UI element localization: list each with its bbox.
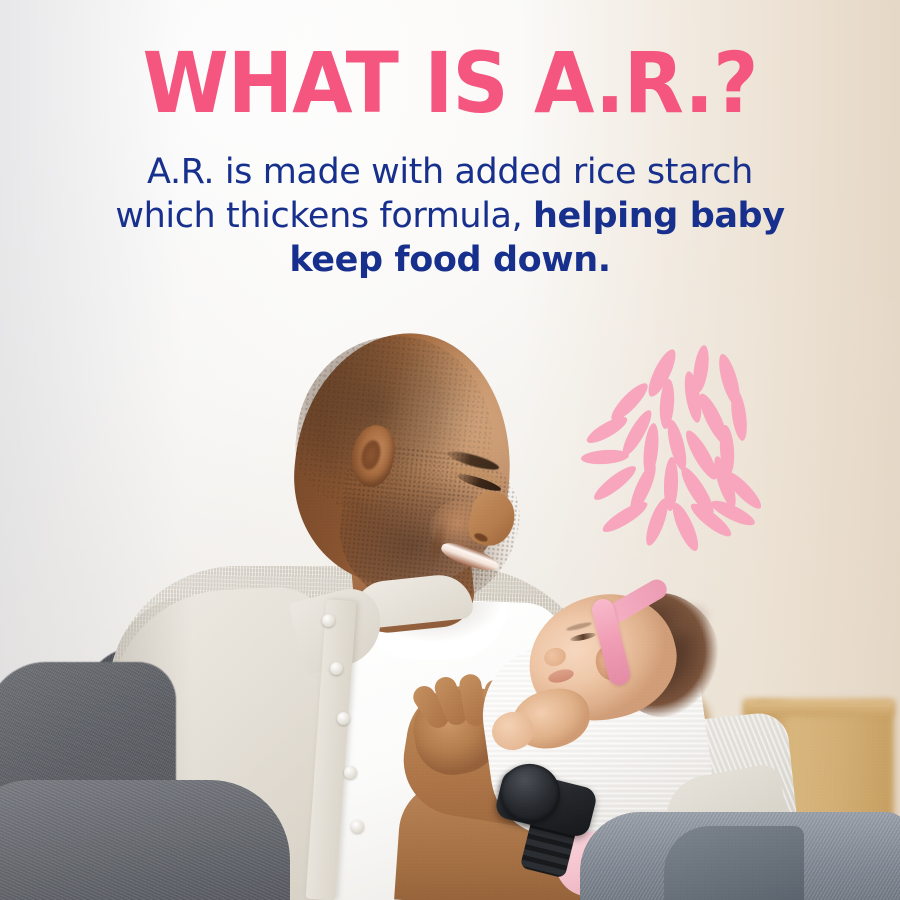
ad-creative: WHAT IS A.R.? A.R. is made with added ri… <box>0 0 900 900</box>
subcopy-line-2-regular: which thickens formula, <box>115 196 533 236</box>
subcopy-block: A.R. is made with added rice starch whic… <box>50 150 850 282</box>
sofa-right-fold <box>664 826 804 900</box>
rice-grain-cluster-icon <box>598 345 768 545</box>
sofa-seat-texture <box>0 780 290 900</box>
subcopy-line-3: keep food down. <box>50 238 850 282</box>
page-title: WHAT IS A.R.? <box>32 41 869 125</box>
subcopy-line-2-bold: helping baby <box>533 196 785 236</box>
rice-grain-icon <box>728 388 749 441</box>
subcopy-line-3-bold: keep food down. <box>289 240 610 280</box>
subcopy-line-1-text: A.R. is made with added rice starch <box>147 152 753 192</box>
subcopy-line-1: A.R. is made with added rice starch <box>50 150 850 194</box>
rice-grain-icon <box>599 497 651 536</box>
subcopy-line-2: which thickens formula, helping baby <box>50 194 850 238</box>
